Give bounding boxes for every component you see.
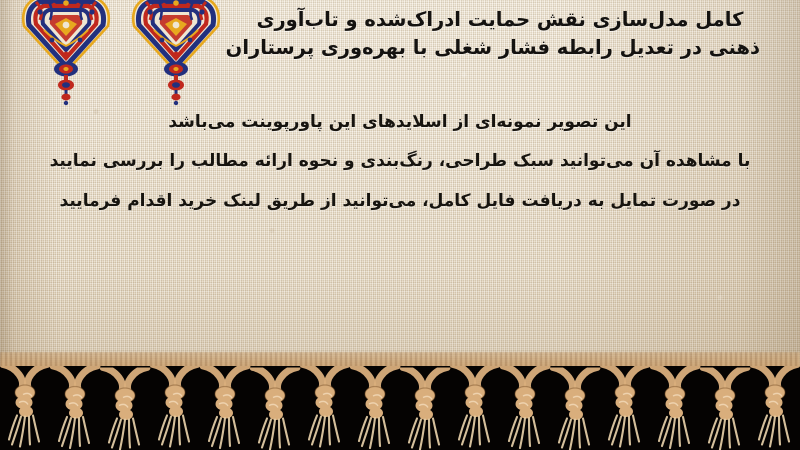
fringe-knot-icon [599,366,651,449]
slide-canvas: کامل مدل‌سازی نقش حمایت ادراک‌شده و تاب‌… [0,0,800,450]
fringe-knot-icon [499,366,551,450]
slide-body-text: این تصویر نمونه‌ای از اسلایدهای این پاور… [36,112,764,211]
slide-title: کامل مدل‌سازی نقش حمایت ادراک‌شده و تاب‌… [240,6,760,61]
fringe-knot-icon [399,368,451,450]
slide-title-line-1: کامل مدل‌سازی نقش حمایت ادراک‌شده و تاب‌… [240,6,760,34]
fringe-knot-icon [99,368,151,450]
fringe-knot-icon [299,366,351,449]
fringe-knot-icon [49,366,101,450]
fringe-knot-icon [349,366,401,450]
body-line-1: این تصویر نمونه‌ای از اسلایدهای این پاور… [36,112,764,132]
persian-pendant-icon [161,60,191,106]
body-line-2: با مشاهده آن می‌توانید سبک طراحی، رنگ‌بن… [36,151,764,171]
body-line-3: در صورت تمایل به دریافت فایل کامل، می‌تو… [36,191,764,211]
carpet-fringe [0,366,800,450]
fringe-knot-icon [749,366,800,449]
fringe-knot-icon [549,368,601,450]
fringe-knot-icon [649,366,701,450]
fringe-knot-icon [249,368,301,450]
fringe-knot-icon [149,366,201,449]
persian-pendant-icon [51,60,81,106]
fringe-knot-icon [699,368,751,450]
fringe-knot-icon [0,366,51,449]
slide-title-line-2: ذهنی در تعدیل رابطه فشار شغلی با بهره‌ور… [240,34,760,62]
fringe-knot-icon [199,366,251,450]
fringe-knot-icon [449,366,501,449]
